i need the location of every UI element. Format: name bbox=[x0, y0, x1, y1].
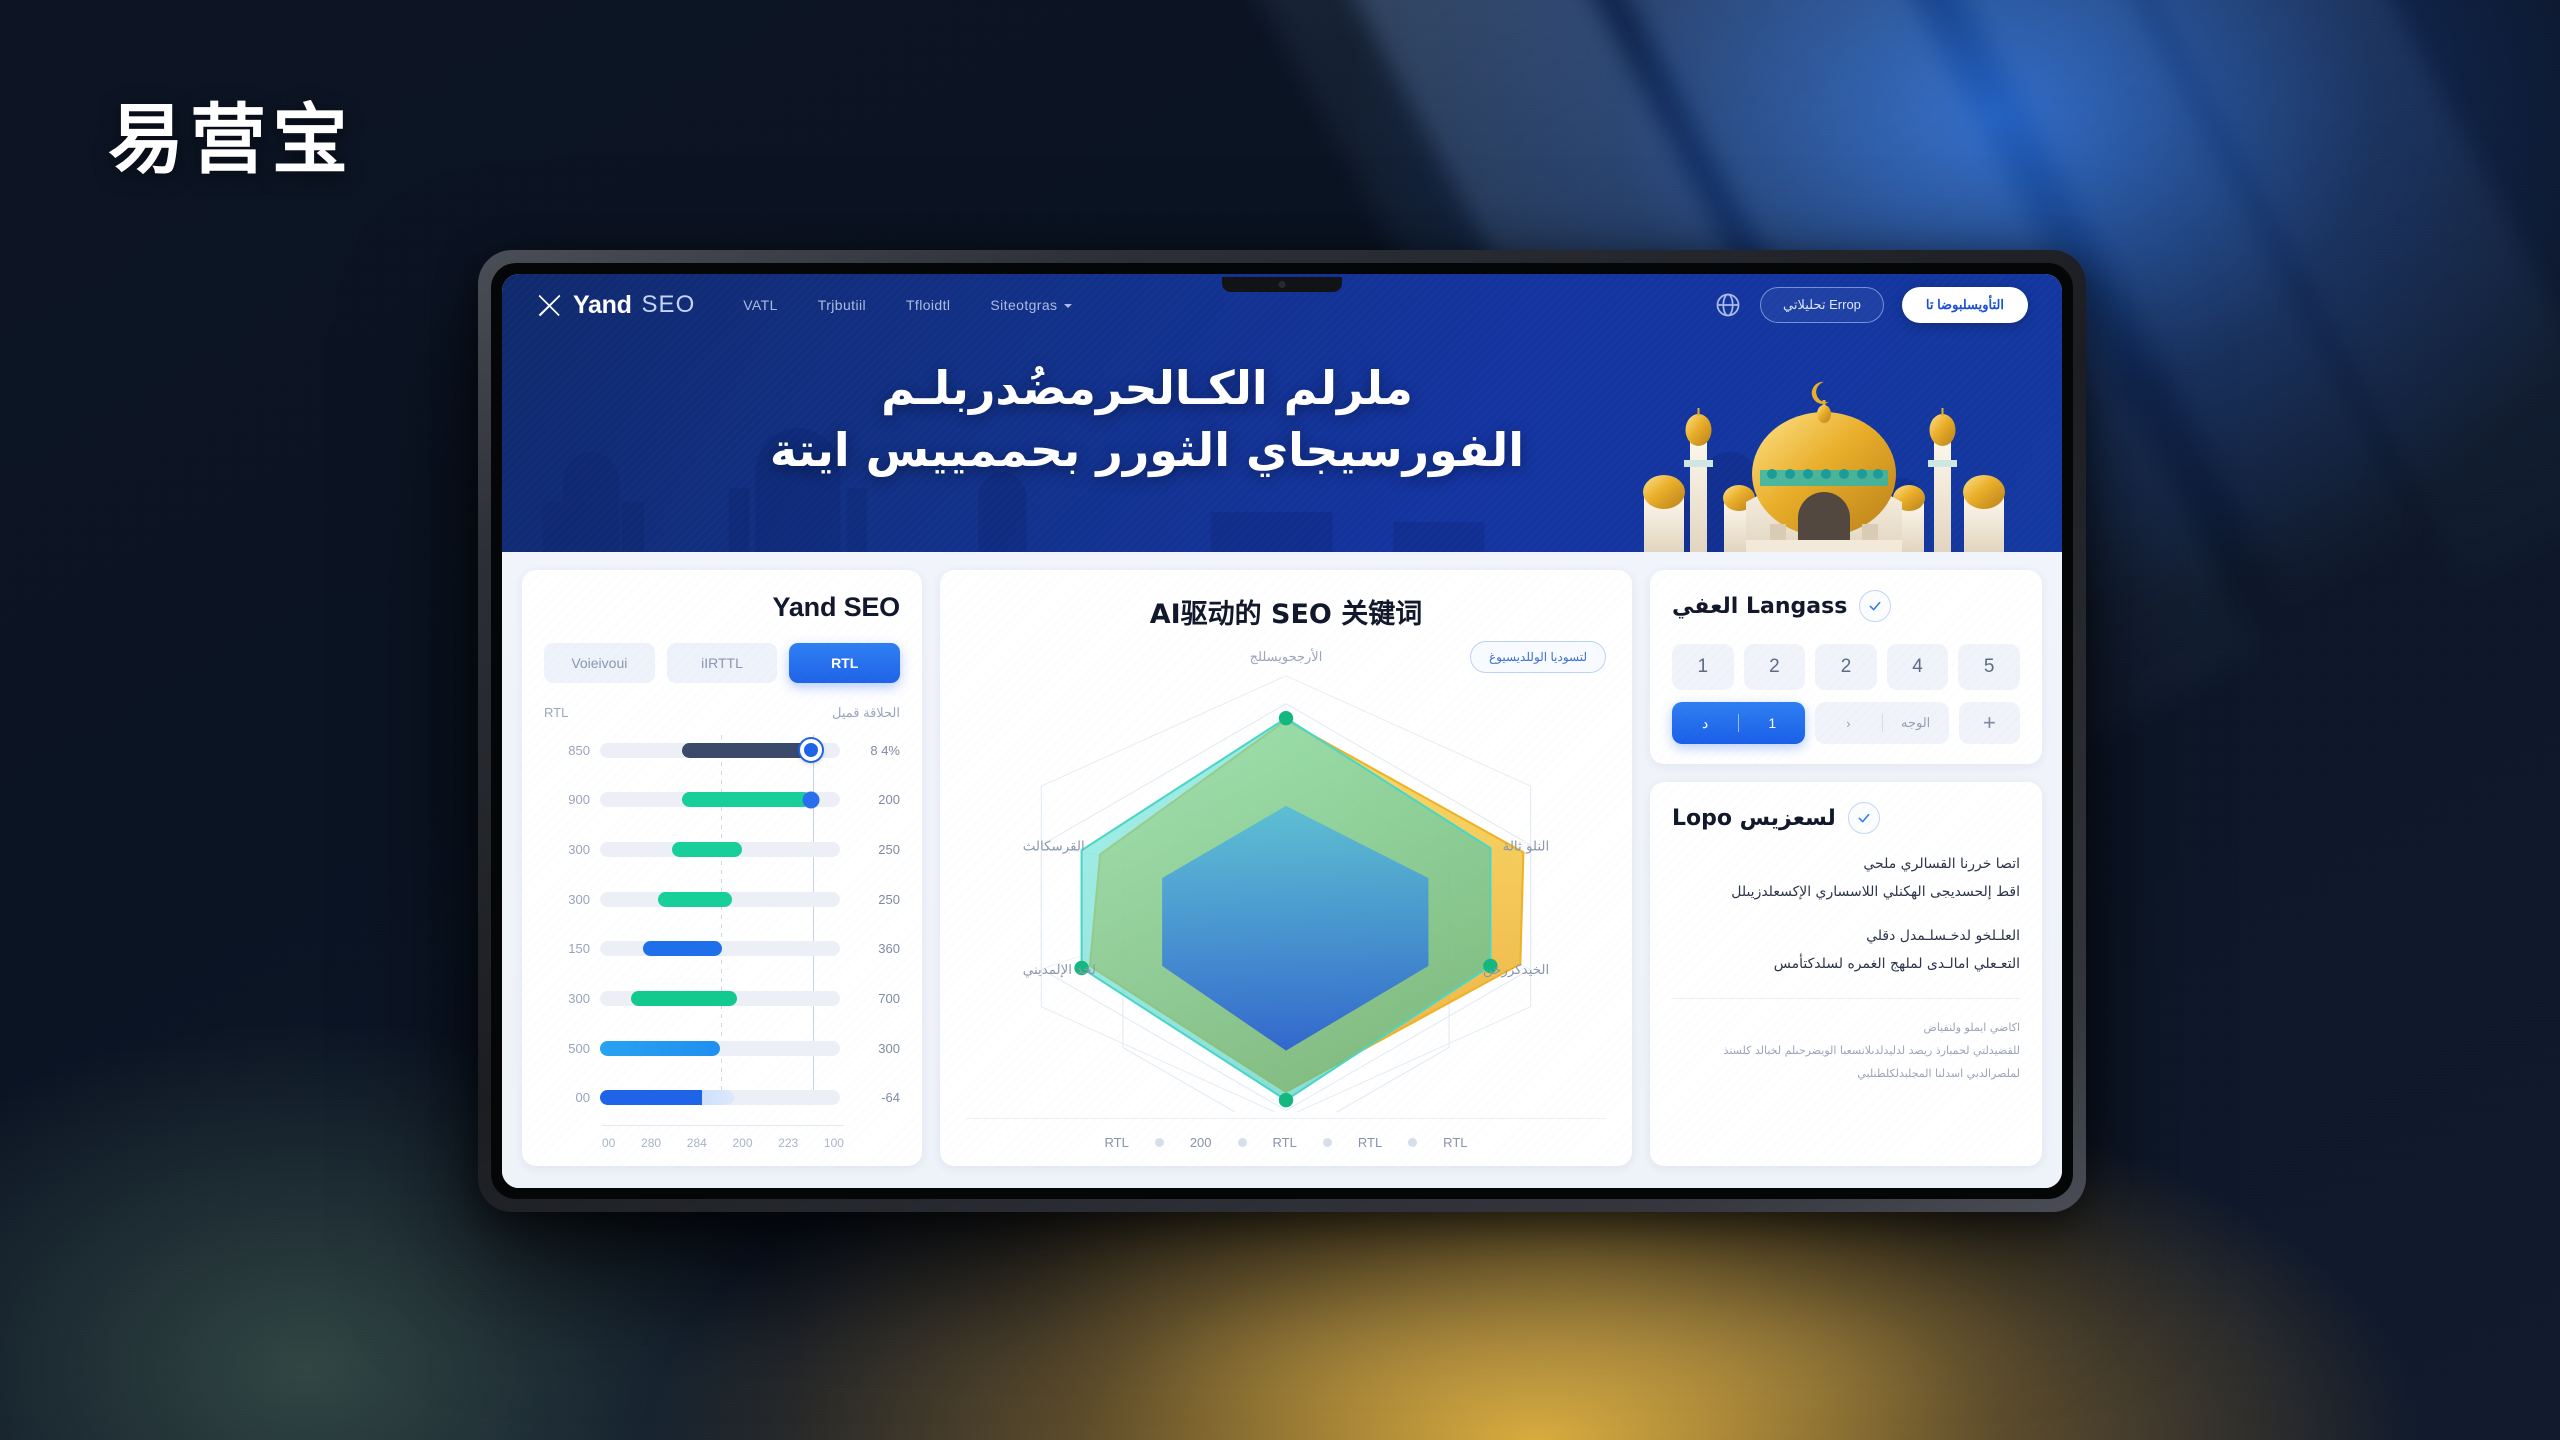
check-circle-icon[interactable] bbox=[1859, 590, 1891, 622]
number-chip[interactable]: 2 bbox=[1744, 644, 1806, 690]
bar-row-value: 250 bbox=[850, 842, 900, 857]
language-panel-title: Langass العفي bbox=[1672, 594, 1847, 619]
hero-section: Yand SEO VATL Trjbutiil Tfloidtl Siteotg… bbox=[502, 274, 2062, 552]
bar-row-label: 900 bbox=[544, 792, 590, 807]
x-tick: 223 bbox=[778, 1136, 798, 1150]
bar-row-value: 700 bbox=[850, 991, 900, 1006]
number-chip[interactable]: 2 bbox=[1815, 644, 1877, 690]
front-camera-notch bbox=[1222, 277, 1342, 292]
x-tick: 100 bbox=[824, 1136, 844, 1150]
radar-card-subheader: الأرجحويسللج لتسوديا الوللديسيوغ bbox=[966, 649, 1606, 665]
svg-text:لخد الإلمديني: لخد الإلمديني bbox=[1023, 963, 1096, 978]
bar-row[interactable]: 00 -64 bbox=[544, 1083, 900, 1113]
legend-item[interactable]: RTL bbox=[1443, 1135, 1467, 1150]
segment-row: د 1 › الوجه + bbox=[1672, 702, 2020, 744]
summary-panel-header: لسعزيس Lopo bbox=[1672, 802, 2020, 834]
summary-footer-line-1: للقضيدلتي لحمبارذ ريصد لدليدلدىلانسعبا ا… bbox=[1672, 1040, 2020, 1061]
nav-actions: تحليلاتي Errop التأويسلبوضا تا bbox=[1714, 287, 2028, 323]
dashboard-area: Yand SEO Voieivoui iIRTTL RTL RTL الحلاق… bbox=[502, 552, 2062, 1188]
summary-panel-title: لسعزيس Lopo bbox=[1672, 806, 1836, 831]
bar-row-value: 8 4% bbox=[850, 743, 900, 758]
brand-watermark: 易营宝 bbox=[108, 78, 354, 188]
legend-label: RTL bbox=[1104, 1135, 1128, 1150]
bar-track[interactable] bbox=[600, 792, 840, 807]
svg-text:القرسكالث: القرسكالث bbox=[1023, 839, 1085, 854]
tab-1[interactable]: Voieivoui bbox=[544, 643, 655, 683]
hero-headline-line2: الفورسيجاي الثورر بحممييس ايتة bbox=[612, 420, 1682, 482]
device-bezel: Yand SEO VATL Trjbutiil Tfloidtl Siteotg… bbox=[491, 263, 2073, 1199]
globe-icon[interactable] bbox=[1714, 291, 1742, 319]
x-tick: 200 bbox=[732, 1136, 752, 1150]
legend-dot-icon bbox=[1155, 1138, 1164, 1147]
axis-right-header: الحلاقة قميل bbox=[832, 705, 900, 721]
legend-label: RTL bbox=[1273, 1135, 1297, 1150]
nav-primary-button[interactable]: التأويسلبوضا تا bbox=[1902, 287, 2028, 323]
bar-row[interactable]: 850 8 4% bbox=[544, 735, 900, 765]
legend-item[interactable]: 200 bbox=[1190, 1135, 1212, 1150]
number-chip[interactable]: 5 bbox=[1958, 644, 2020, 690]
left-card-title: Yand SEO bbox=[544, 592, 900, 623]
number-chip[interactable]: 4 bbox=[1887, 644, 1949, 690]
bar-row-value: 300 bbox=[850, 1041, 900, 1056]
nav-link-1[interactable]: VATL bbox=[743, 297, 778, 313]
bar-track[interactable] bbox=[600, 842, 840, 857]
bar-row-value: -64 bbox=[850, 1090, 900, 1105]
summary-paragraph-1: اتصا خررنا القسالري ملحي bbox=[1672, 852, 2020, 878]
left-card-tabs: Voieivoui iIRTTL RTL bbox=[544, 643, 900, 683]
legend-item[interactable]: RTL bbox=[1358, 1135, 1382, 1150]
legend-item[interactable]: RTL bbox=[1273, 1135, 1297, 1150]
x-tick: 284 bbox=[687, 1136, 707, 1150]
logo-subtext: SEO bbox=[642, 291, 696, 319]
radar-chart-svg: النلو ثالة الخيدكزرخن الهايء النعي لخد ا… bbox=[966, 665, 1606, 1112]
legend-label: RTL bbox=[1358, 1135, 1382, 1150]
hero-headline: ملرلم الكـالحرمضُدربلـم الفورسيجاي الثور… bbox=[502, 358, 2062, 481]
radar-card-title: AI驱动的 SEO 关键词 bbox=[966, 592, 1606, 631]
bar-track[interactable] bbox=[600, 1090, 840, 1105]
tablet-device-frame: Yand SEO VATL Trjbutiil Tfloidtl Siteotg… bbox=[478, 250, 2086, 1212]
x-tick: 00 bbox=[602, 1136, 615, 1150]
bar-track[interactable] bbox=[600, 941, 840, 956]
summary-panel: لسعزيس Lopo اتصا خررنا القسالري ملحي اقط… bbox=[1650, 782, 2042, 1166]
summary-paragraph-4: التعـعلي امالـدى لملهج الغمره لسلدكتأمس bbox=[1672, 952, 2020, 978]
nav-link-2[interactable]: Trjbutiil bbox=[818, 297, 866, 313]
legend-dot-icon bbox=[1408, 1138, 1417, 1147]
radar-chart-card: AI驱动的 SEO 关键词 الأرجحويسللج لتسوديا الولل… bbox=[940, 570, 1632, 1166]
logo-text: Yand bbox=[573, 291, 632, 320]
bar-row-label: 150 bbox=[544, 941, 590, 956]
bar-row[interactable]: 500 300 bbox=[544, 1033, 900, 1063]
segment-active-left: د bbox=[1672, 715, 1738, 732]
check-circle-icon[interactable] bbox=[1848, 802, 1880, 834]
x-tick: 280 bbox=[641, 1136, 661, 1150]
bar-row-label: 500 bbox=[544, 1041, 590, 1056]
radar-legend: RTL 200 RTL RTL RTL bbox=[966, 1118, 1606, 1150]
axis-left-header: RTL bbox=[544, 705, 568, 721]
bar-row-label: 300 bbox=[544, 892, 590, 907]
summary-paragraph-3: العلـلخو لدخـسلـمدل دقلي bbox=[1672, 924, 2020, 950]
radar-chart[interactable]: النلو ثالة الخيدكزرخن الهايء النعي لخد ا… bbox=[966, 665, 1606, 1112]
tab-2[interactable]: iIRTTL bbox=[667, 643, 778, 683]
bar-row[interactable]: 300 700 bbox=[544, 984, 900, 1014]
bar-row[interactable]: 900 200 bbox=[544, 785, 900, 815]
bar-row-value: 360 bbox=[850, 941, 900, 956]
nav-ghost-button[interactable]: تحليلاتي Errop bbox=[1760, 287, 1884, 323]
segment-inactive-right: الوجه bbox=[1883, 715, 1949, 731]
hero-headline-line1: ملرلم الكـالحرمضُدربلـم bbox=[612, 358, 1682, 420]
number-chip[interactable]: 1 bbox=[1672, 644, 1734, 690]
bar-row-label: 850 bbox=[544, 743, 590, 758]
summary-paragraph-2: اقط إلحسديجى الهكنلي اللاسساري الإكسعلدز… bbox=[1672, 880, 2020, 906]
bar-row-label: 300 bbox=[544, 842, 590, 857]
segment-inactive-left: › bbox=[1815, 716, 1881, 731]
x-mark-logo-icon bbox=[536, 292, 563, 319]
nav-link-4-dropdown[interactable]: Siteotgras bbox=[990, 297, 1072, 313]
bar-chart-x-axis: 00 280 284 200 223 100 bbox=[602, 1125, 844, 1150]
bar-track[interactable] bbox=[600, 1041, 840, 1056]
legend-label: RTL bbox=[1443, 1135, 1467, 1150]
number-chips: 1 2 2 4 5 bbox=[1672, 644, 2020, 690]
legend-dot-icon bbox=[1238, 1138, 1247, 1147]
segment-active-right: 1 bbox=[1739, 715, 1805, 731]
legend-label: 200 bbox=[1190, 1135, 1212, 1150]
language-panel: Langass العفي 1 2 2 4 5 د 1 bbox=[1650, 570, 2042, 764]
bar-row[interactable]: 300 250 bbox=[544, 884, 900, 914]
brand-logo[interactable]: Yand SEO bbox=[536, 291, 695, 320]
nav-link-3[interactable]: Tfloidtl bbox=[906, 297, 950, 313]
bar-row-value: 200 bbox=[850, 792, 900, 807]
language-panel-header: Langass العفي bbox=[1672, 590, 2020, 622]
radar-subtitle: الأرجحويسللج bbox=[1250, 649, 1323, 665]
legend-item[interactable]: RTL bbox=[1104, 1135, 1128, 1150]
bar-chart-header: RTL الحلاقة قميل bbox=[544, 705, 900, 721]
tab-3-active[interactable]: RTL bbox=[789, 643, 900, 683]
bar-track[interactable] bbox=[600, 991, 840, 1006]
bar-row-value: 250 bbox=[850, 892, 900, 907]
bar-chart-card: Yand SEO Voieivoui iIRTTL RTL RTL الحلاق… bbox=[522, 570, 922, 1166]
segment-active[interactable]: د 1 bbox=[1672, 702, 1805, 744]
summary-footer-title: اكاضي ايملو ولنفياض bbox=[1672, 1017, 2020, 1038]
nav-links: VATL Trjbutiil Tfloidtl Siteotgras bbox=[743, 297, 1072, 313]
summary-footer-line-2: لملصرالدبي اسدلنا المجلبدلكلطنلبي bbox=[1672, 1063, 2020, 1084]
bar-row[interactable]: 150 360 bbox=[544, 934, 900, 964]
right-sidebar: Langass العفي 1 2 2 4 5 د 1 bbox=[1650, 570, 2042, 1166]
bar-row-label: 300 bbox=[544, 991, 590, 1006]
bar-track[interactable] bbox=[600, 892, 840, 907]
legend-dot-icon bbox=[1323, 1138, 1332, 1147]
device-screen: Yand SEO VATL Trjbutiil Tfloidtl Siteotg… bbox=[502, 274, 2062, 1188]
bar-row-label: 00 bbox=[544, 1090, 590, 1105]
bar-row[interactable]: 300 250 bbox=[544, 834, 900, 864]
bar-chart-rows: 850 8 4% 900 200 bbox=[544, 735, 900, 1113]
bar-track[interactable] bbox=[600, 743, 840, 758]
svg-text:النلو ثالة: النلو ثالة bbox=[1503, 839, 1550, 854]
summary-divider bbox=[1672, 998, 2020, 999]
add-button[interactable]: + bbox=[1959, 702, 2020, 744]
svg-text:الخيدكزرخن: الخيدكزرخن bbox=[1483, 963, 1549, 978]
segment-inactive[interactable]: › الوجه bbox=[1815, 702, 1948, 744]
